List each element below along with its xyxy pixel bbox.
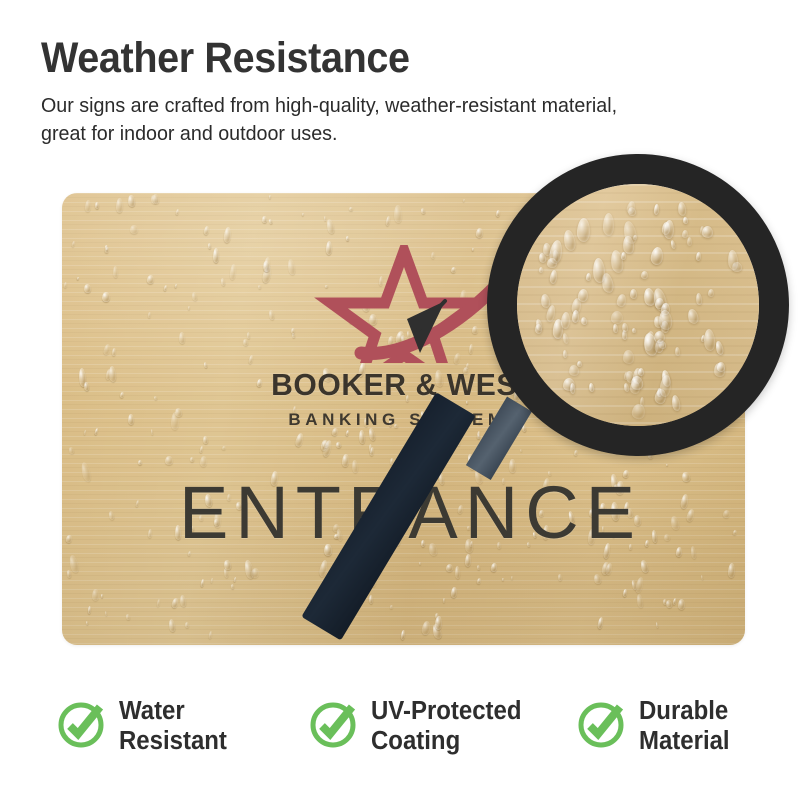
sign-company-tagline: BANKING SYSTEMS	[62, 410, 745, 430]
sign-main-text: ENTRANCE	[62, 476, 745, 550]
page-title: Weather Resistance	[41, 33, 667, 83]
feature-label: Water Resistant	[119, 694, 227, 756]
check-circle-icon	[55, 698, 107, 750]
star-swoosh-logo-icon	[299, 245, 509, 363]
header-block: Weather Resistance Our signs are crafted…	[41, 33, 721, 148]
sign-sheen-overlay	[62, 193, 745, 645]
feature-badge-durable-material: Durable Material	[575, 694, 769, 756]
weather-resistance-feature-graphic: Weather Resistance Our signs are crafted…	[0, 0, 804, 804]
check-circle-icon	[575, 698, 627, 750]
feature-badge-row: Water Resistant UV-Protected Coating Dur…	[55, 694, 769, 756]
feature-badge-water-resistant: Water Resistant	[55, 694, 307, 756]
sign-company-name: BOOKER & WEST	[72, 367, 735, 403]
feature-label: Durable Material	[639, 694, 730, 756]
feature-badge-uv-protected-coating: UV-Protected Coating	[307, 694, 575, 756]
page-subtitle: Our signs are crafted from high-quality,…	[41, 92, 655, 148]
sign-logo-block: BOOKER & WEST BANKING SYSTEMS	[62, 245, 745, 430]
check-circle-icon	[307, 698, 359, 750]
feature-label: UV-Protected Coating	[371, 694, 522, 756]
sign-product-panel: BOOKER & WEST BANKING SYSTEMS ENTRANCE	[62, 193, 745, 645]
